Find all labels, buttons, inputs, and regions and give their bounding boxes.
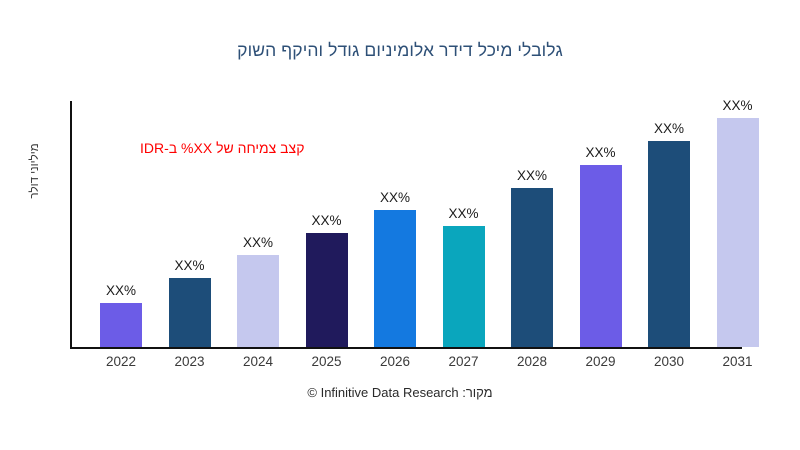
x-axis-tick-label: 2024: [228, 354, 288, 369]
bar-value-label: XX%: [434, 206, 494, 221]
x-axis-tick-label: 2029: [571, 354, 631, 369]
bar-column: XX%: [511, 188, 553, 347]
x-axis-tick-label: 2025: [297, 354, 357, 369]
bar-column: XX%: [169, 278, 211, 347]
bar[interactable]: [306, 233, 348, 347]
chart-title: גלובלי מיכל דידר אלומיניום גודל והיקף הש…: [0, 40, 800, 61]
bar-column: XX%: [580, 165, 622, 347]
bar[interactable]: [580, 165, 622, 347]
source-note: מקור: Infinitive Data Research ©: [0, 385, 800, 400]
x-axis-tick-label: 2027: [434, 354, 494, 369]
bar-value-label: XX%: [91, 283, 151, 298]
bar[interactable]: [648, 141, 690, 347]
growth-rate-annotation: קצב צמיחה של XX% ב-IDR: [140, 140, 304, 156]
bar[interactable]: [100, 303, 142, 347]
plot-area: XX%XX%XX%XX%XX%XX%XX%XX%XX%XX%: [70, 101, 742, 349]
bar-column: XX%: [306, 233, 348, 347]
bar-column: XX%: [374, 210, 416, 347]
x-axis-tick-label: 2023: [160, 354, 220, 369]
bar[interactable]: [169, 278, 211, 347]
bar-value-label: XX%: [639, 121, 699, 136]
bar-value-label: XX%: [160, 258, 220, 273]
bar-value-label: XX%: [571, 145, 631, 160]
bar-value-label: XX%: [297, 213, 357, 228]
bar[interactable]: [717, 118, 759, 347]
bar-column: XX%: [237, 255, 279, 347]
bar[interactable]: [374, 210, 416, 347]
x-axis-tick-labels: 2022202320242025202620272028202920302031: [70, 354, 770, 376]
bar[interactable]: [511, 188, 553, 347]
bar-value-label: XX%: [708, 98, 768, 113]
y-axis-line: [70, 101, 72, 349]
x-axis-tick-label: 2031: [708, 354, 768, 369]
bar-column: XX%: [443, 226, 485, 347]
bar[interactable]: [443, 226, 485, 347]
bar-chart: גלובלי מיכל דידר אלומיניום גודל והיקף הש…: [0, 0, 800, 450]
x-axis-tick-label: 2026: [365, 354, 425, 369]
bar-value-label: XX%: [365, 190, 425, 205]
x-axis-line: [70, 347, 742, 349]
x-axis-tick-label: 2030: [639, 354, 699, 369]
y-axis-label: מיליוני דולר: [29, 111, 41, 231]
x-axis-tick-label: 2022: [91, 354, 151, 369]
bar-column: XX%: [648, 141, 690, 347]
bar-value-label: XX%: [502, 168, 562, 183]
bar-column: XX%: [717, 118, 759, 347]
bar-value-label: XX%: [228, 235, 288, 250]
bar-column: XX%: [100, 303, 142, 347]
x-axis-tick-label: 2028: [502, 354, 562, 369]
bar[interactable]: [237, 255, 279, 347]
